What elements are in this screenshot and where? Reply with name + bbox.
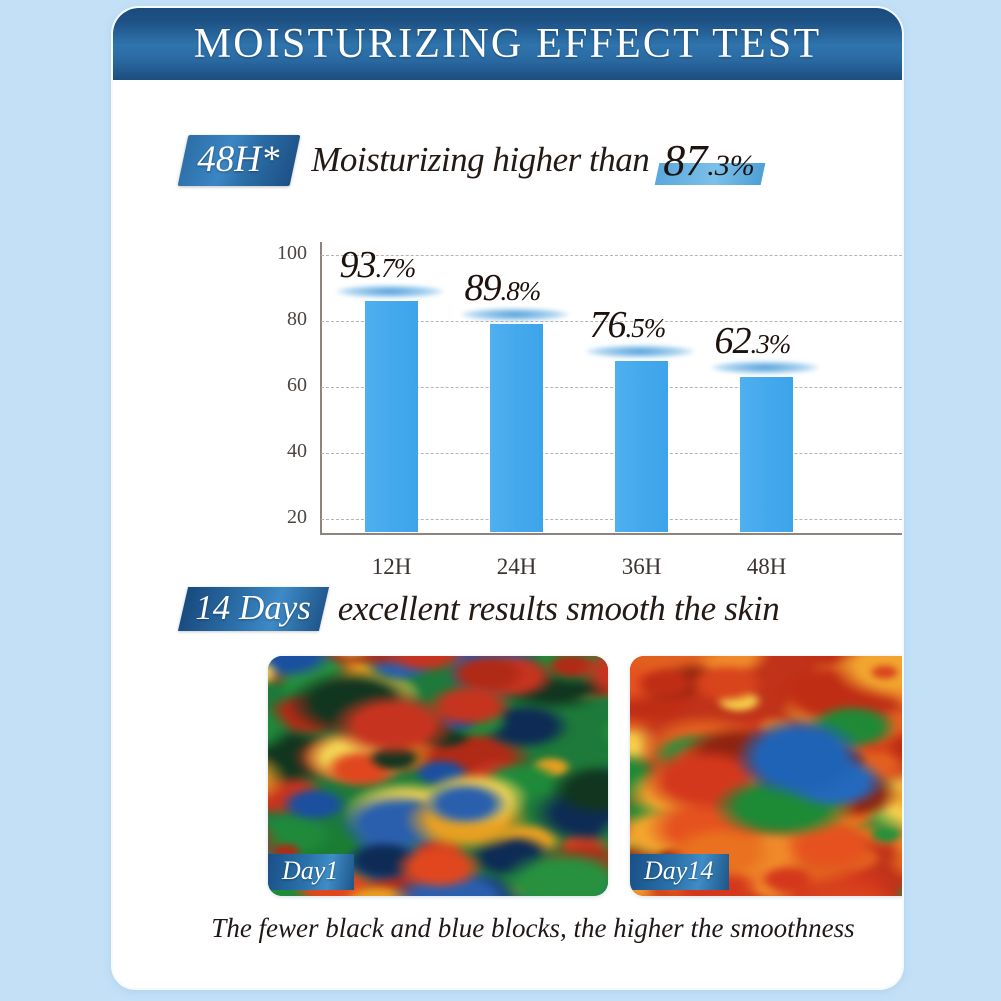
x-axis-label-48H: 48H <box>707 554 827 580</box>
data-label-48H: 62.3% <box>715 319 791 363</box>
data-label-decimal: .7% <box>376 253 416 283</box>
x-axis-label-36H: 36H <box>582 554 702 580</box>
poster-root: MOISTURIZING EFFECT TEST 48H* Moisturizi… <box>0 0 1001 1001</box>
data-label-integer: 89 <box>465 267 501 309</box>
bar-48H <box>740 377 793 532</box>
data-label-decimal: .8% <box>501 276 541 306</box>
y-axis-tick-label: 60 <box>249 374 307 397</box>
highlight-decimal: .3% <box>707 149 755 182</box>
data-label-integer: 76 <box>590 304 626 346</box>
data-label-integer: 62 <box>715 320 751 362</box>
y-axis-ticks: 10080604020 <box>245 230 307 540</box>
y-axis-tick-label: 20 <box>249 506 307 529</box>
bar-chart: 10080604020 12H93.7%24H89.8%36H76.5%48H6… <box>183 230 902 560</box>
data-label-integer: 93 <box>340 244 376 286</box>
thermal-image-day14: Day14 <box>630 656 902 896</box>
data-label-24H: 89.8% <box>465 266 541 310</box>
days-banner-text: excellent results smooth the skin <box>338 589 780 629</box>
data-label-decimal: .5% <box>626 313 666 343</box>
page-title: MOISTURIZING EFFECT TEST <box>113 8 902 80</box>
data-label-decimal: .3% <box>751 329 791 359</box>
x-axis-line <box>320 533 902 535</box>
plot-area: 12H93.7%24H89.8%36H76.5%48H62.3% <box>321 242 902 532</box>
subtitle-text: Moisturizing higher than <box>311 140 649 180</box>
thermal-label-day14: Day14 <box>630 854 729 890</box>
badge-14-days-label: 14 Days <box>195 588 311 628</box>
y-axis-tick-label: 40 <box>249 440 307 463</box>
data-label-12H: 93.7% <box>340 243 416 287</box>
highlight-value: 87.3% <box>663 135 755 186</box>
highlight-integer: 87 <box>663 136 707 185</box>
caption-text: The fewer black and blue blocks, the hig… <box>183 913 883 944</box>
days-banner-row: 14 Days excellent results smooth the ski… <box>183 584 902 634</box>
y-axis-tick-label: 100 <box>249 242 307 265</box>
bar-24H <box>490 324 543 532</box>
data-label-36H: 76.5% <box>590 303 666 347</box>
x-axis-label-24H: 24H <box>457 554 577 580</box>
badge-14-days: 14 Days <box>178 587 329 631</box>
thermal-image-day1: Day1 <box>268 656 608 896</box>
y-axis-tick-label: 80 <box>249 308 307 331</box>
header-bar: MOISTURIZING EFFECT TEST <box>113 8 902 80</box>
x-axis-label-12H: 12H <box>332 554 452 580</box>
subtitle-row: 48H* Moisturizing higher than 87.3% <box>183 132 883 188</box>
bar-36H <box>615 361 668 532</box>
badge-48h-label: 48H* <box>197 138 279 181</box>
thermal-label-day1: Day1 <box>268 854 354 890</box>
bar-12H <box>365 301 418 532</box>
badge-48h: 48H* <box>178 135 301 186</box>
content-card: MOISTURIZING EFFECT TEST 48H* Moisturizi… <box>113 8 902 988</box>
